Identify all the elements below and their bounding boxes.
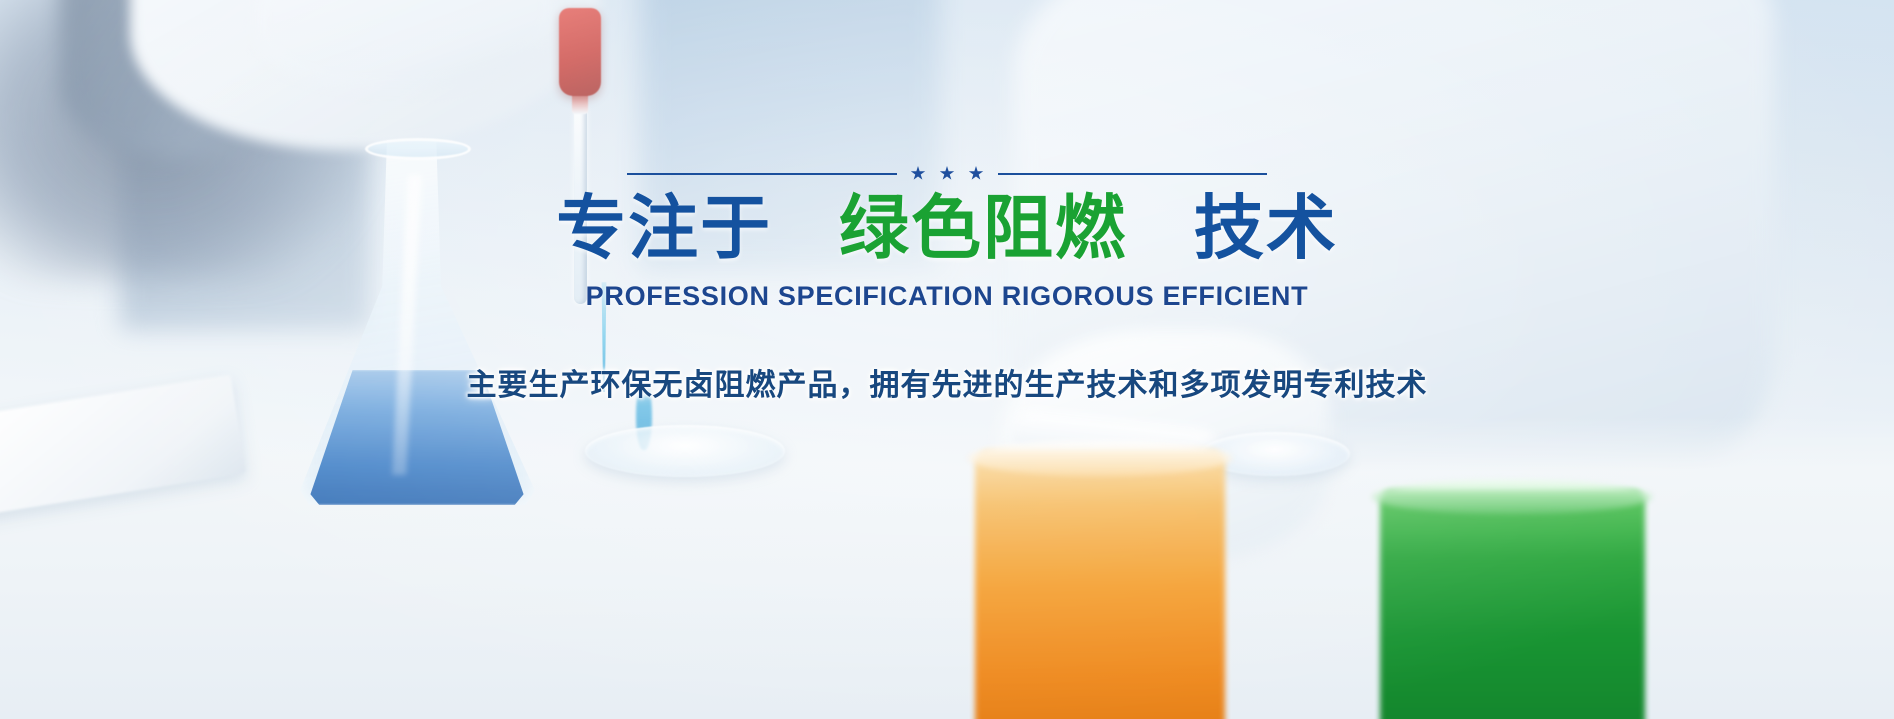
hero-banner: 专注于 绿色阻燃 技术 PROFESSION SPECIFICATION RIG… [0,0,1894,719]
star-group [911,166,984,181]
divider-line-left [627,173,897,175]
banner-subtitle: PROFESSION SPECIFICATION RIGOROUS EFFICI… [586,281,1309,312]
decorative-divider [627,166,1267,181]
star-icon [911,166,926,181]
headline-part-3: 技术 [1194,189,1338,267]
star-icon [969,166,984,181]
banner-tagline: 主要生产环保无卤阻燃产品，拥有先进的生产技术和多项发明专利技术 [467,360,1428,404]
headline-part-1: 专注于 [556,189,772,267]
divider-line-right [998,173,1268,175]
banner-headline: 专注于 绿色阻燃 技术 [556,191,1338,265]
banner-content: 专注于 绿色阻燃 技术 PROFESSION SPECIFICATION RIG… [0,0,1894,719]
star-icon [940,166,955,181]
headline-part-2: 绿色阻燃 [839,189,1127,267]
